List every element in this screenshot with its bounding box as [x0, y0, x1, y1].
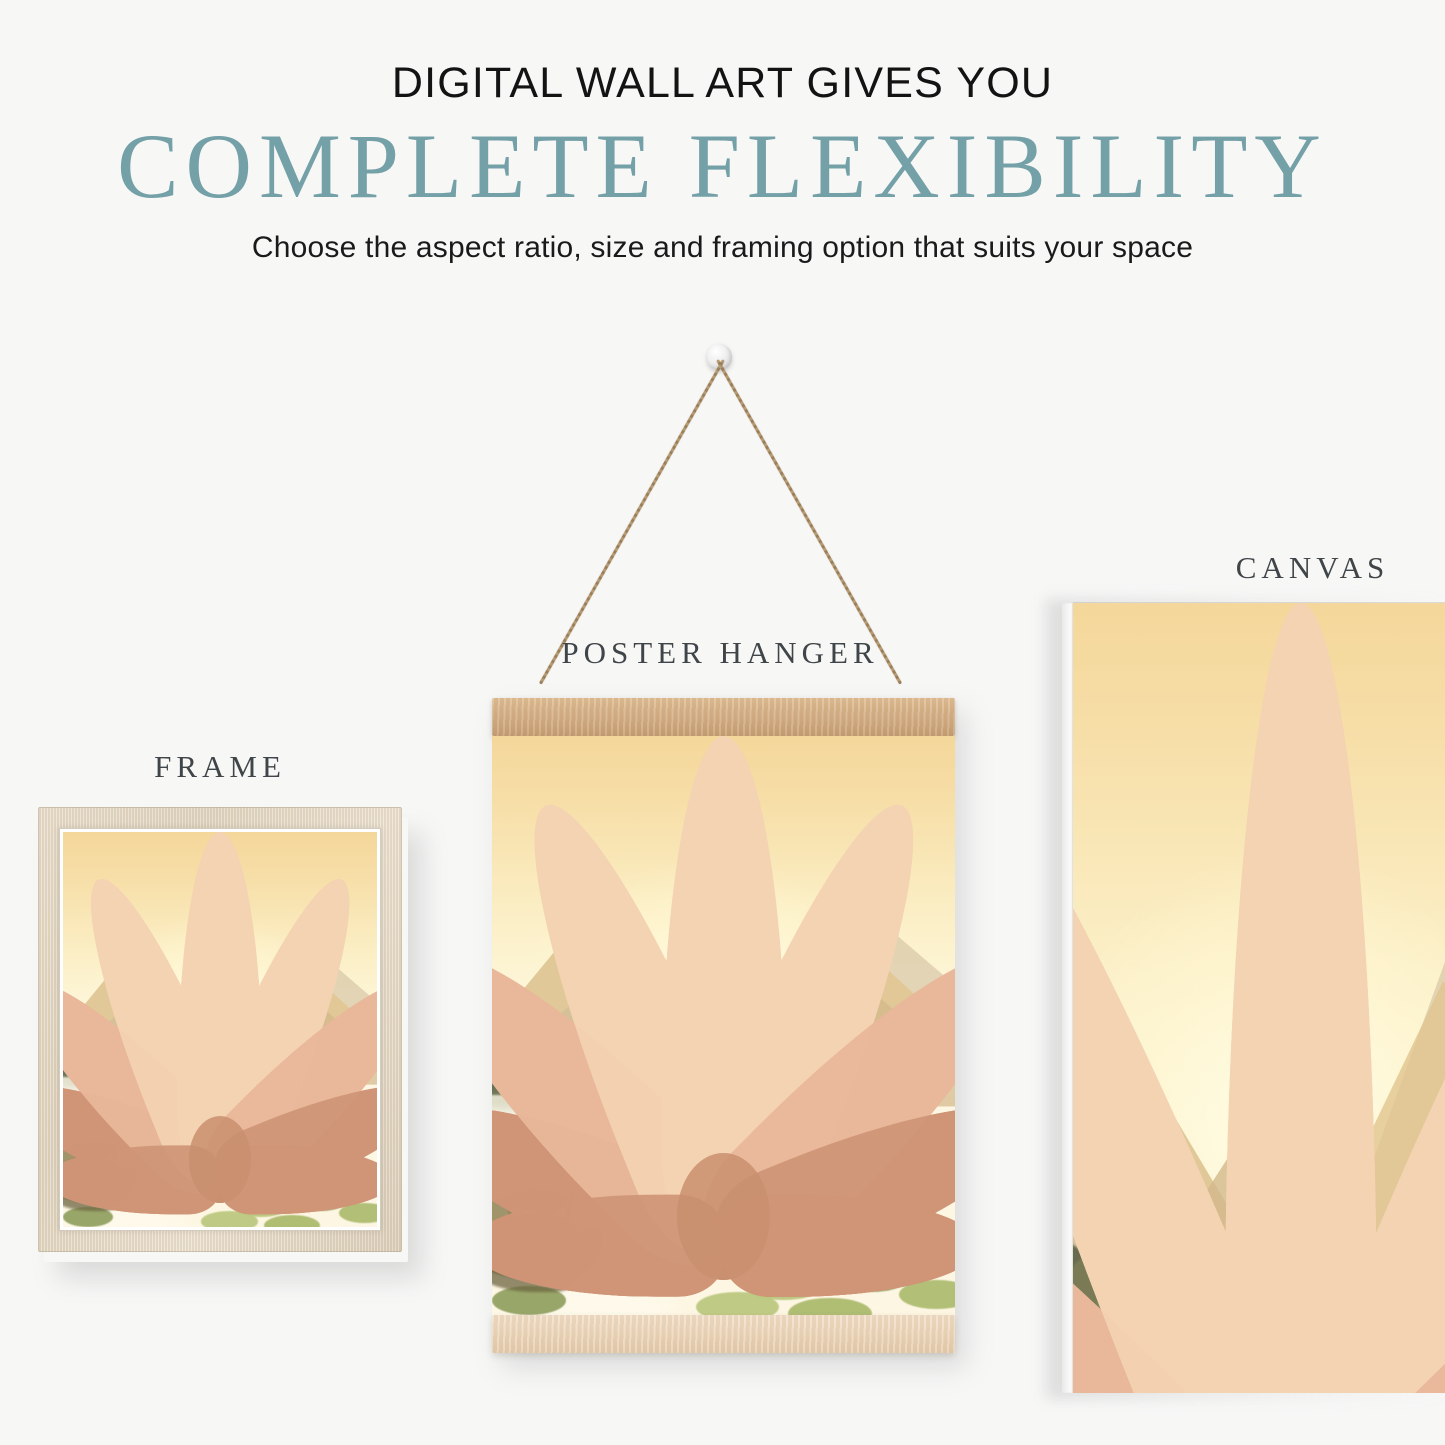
- artwork-scene: [63, 832, 377, 1227]
- poster-mockup-canvas: DIGITAL WALL ART GIVES YOU COMPLETE FLEX…: [0, 0, 1445, 1445]
- page-title: COMPLETE FLEXIBILITY: [0, 118, 1445, 215]
- canvas-artwork: [1073, 603, 1445, 1393]
- poster-body: [492, 698, 955, 1353]
- product-canvas[interactable]: [1062, 603, 1445, 1393]
- product-poster-hanger[interactable]: POSTER HANGER: [470, 340, 970, 1360]
- poster-hanger-label: POSTER HANGER: [540, 635, 900, 671]
- frame-mat: [59, 828, 381, 1231]
- header-subtitle: Choose the aspect ratio, size and framin…: [0, 233, 1445, 263]
- product-frame[interactable]: [38, 807, 402, 1252]
- lotus-center: [189, 1116, 252, 1203]
- artwork-scene: [1073, 603, 1445, 1393]
- hanger-rail-top: [492, 698, 955, 736]
- artwork-scene: [492, 736, 955, 1315]
- frame-label: FRAME: [38, 749, 402, 785]
- lily-pad: [788, 1298, 871, 1315]
- lily-pad: [264, 1215, 321, 1227]
- hanger-rail-bottom: [492, 1315, 955, 1353]
- header-eyebrow: DIGITAL WALL ART GIVES YOU: [0, 62, 1445, 105]
- canvas-label: CANVAS: [1180, 550, 1445, 586]
- canvas-wrapped-edge: [1062, 603, 1073, 1393]
- poster-artwork: [492, 736, 955, 1315]
- lotus-center: [677, 1153, 770, 1280]
- frame-artwork: [63, 832, 377, 1227]
